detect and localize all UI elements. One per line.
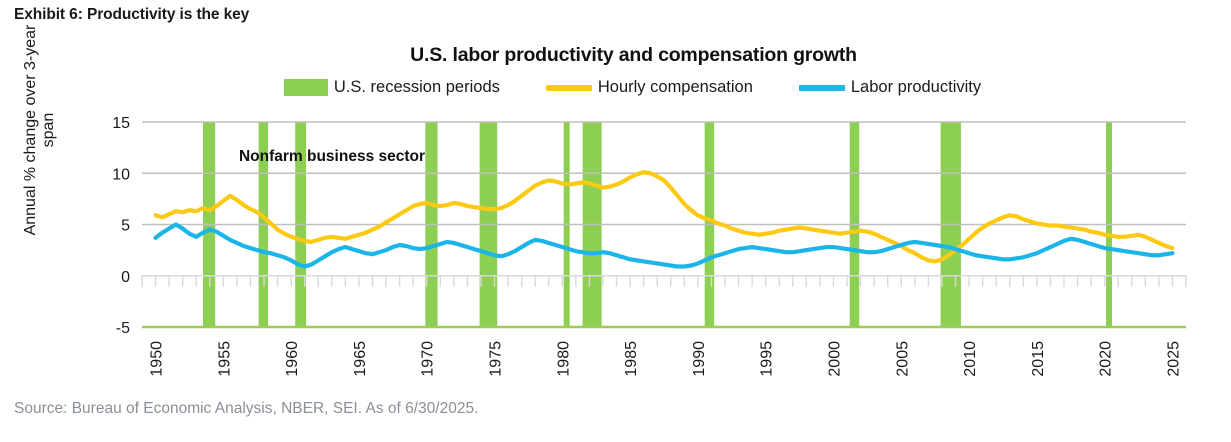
x-tick-label: 1955 [216,341,233,377]
x-tick-label: 2005 [894,341,911,377]
x-tick-label: 2020 [1098,341,1115,377]
x-tick-label: 1985 [623,341,640,377]
x-tick-label: 1975 [488,341,505,377]
x-tick-label: 2025 [1165,341,1182,377]
x-tick-label: 1990 [691,341,708,377]
x-tick-label: 2015 [1030,341,1047,377]
y-tick-label: 0 [121,269,130,286]
source-note: Source: Bureau of Economic Analysis, NBE… [14,400,478,418]
x-tick-label: 1965 [352,341,369,377]
y-tick-label: 10 [112,166,130,183]
series-line-labor-productivity [156,225,1173,267]
chart-plot-area: -505101519501955196019651970197519801985… [0,0,1231,442]
x-tick-label: 1970 [420,341,437,377]
chart-annotation: Nonfarm business sector [237,148,427,166]
x-tick-label: 1950 [149,341,166,377]
x-tick-label: 2000 [826,341,843,377]
series-line-hourly-compensation [156,172,1173,261]
y-tick-label: 5 [121,218,130,235]
x-tick-label: 1980 [555,341,572,377]
chart-svg: -505101519501955196019651970197519801985… [0,0,1231,442]
x-tick-label: 2010 [962,341,979,377]
x-tick-label: 1960 [284,341,301,377]
y-tick-label: 15 [112,115,130,132]
y-tick-label: -5 [116,320,130,337]
x-tick-label: 1995 [759,341,776,377]
